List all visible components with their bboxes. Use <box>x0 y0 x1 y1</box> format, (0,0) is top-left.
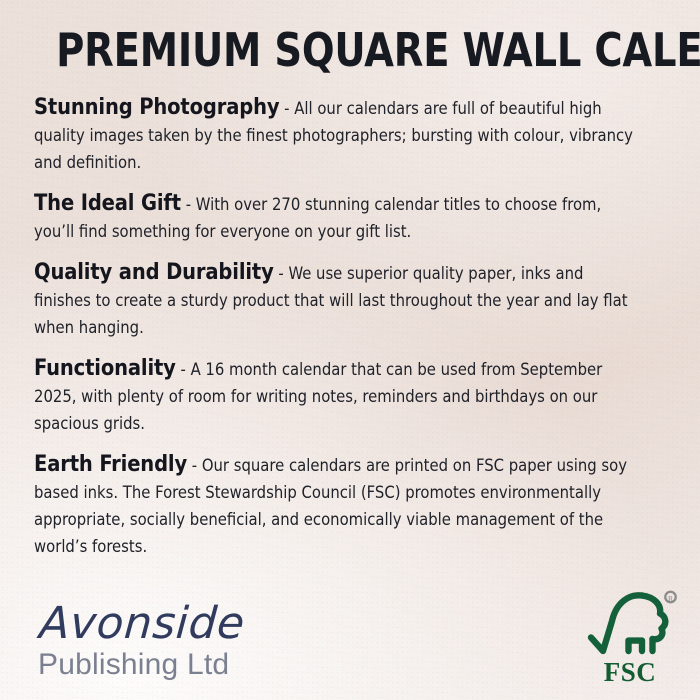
feature-separator: - <box>274 264 289 284</box>
feature-separator: - <box>279 99 294 119</box>
brand-logo: Avonside Publishing Ltd <box>38 601 243 682</box>
fsc-tree-checkmark-icon: R <box>582 588 678 660</box>
footer: Avonside Publishing Ltd <box>0 582 700 700</box>
feature-separator: - <box>187 456 202 476</box>
brand-name: Avonside <box>38 601 246 647</box>
feature-separator: - <box>181 195 196 215</box>
feature-item-functionality: Functionality - A 16 month calendar that… <box>34 355 666 438</box>
fsc-certification-logo: R FSC <box>582 588 678 688</box>
fsc-label: FSC <box>582 659 678 686</box>
svg-text:R: R <box>668 594 673 603</box>
feature-heading: The Ideal Gift <box>34 190 181 216</box>
promo-panel: PREMIUM SQUARE WALL CALENDARS Stunning P… <box>0 0 700 700</box>
feature-separator: - <box>176 360 191 380</box>
feature-heading: Quality and Durability <box>34 259 274 285</box>
brand-subtitle: Publishing Ltd <box>38 648 243 682</box>
feature-item-the-ideal-gift: The Ideal Gift - With over 270 stunning … <box>34 190 666 246</box>
feature-item-quality-and-durability: Quality and Durability - We use superior… <box>34 259 666 342</box>
feature-list: Stunning Photography - All our calendars… <box>34 94 666 561</box>
feature-heading: Functionality <box>34 355 176 381</box>
page-title: PREMIUM SQUARE WALL CALENDARS <box>56 0 644 73</box>
feature-heading: Earth Friendly <box>34 451 187 477</box>
feature-heading: Stunning Photography <box>34 94 279 120</box>
content-area: PREMIUM SQUARE WALL CALENDARS Stunning P… <box>0 0 700 561</box>
feature-item-stunning-photography: Stunning Photography - All our calendars… <box>34 94 666 177</box>
feature-item-earth-friendly: Earth Friendly - Our square calendars ar… <box>34 451 666 561</box>
